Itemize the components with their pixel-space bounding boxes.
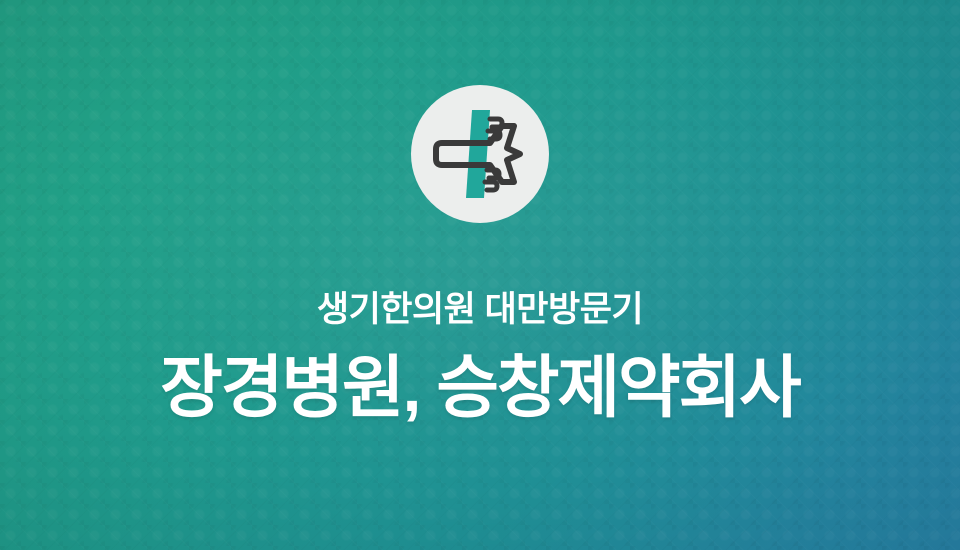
airplane-icon bbox=[428, 102, 532, 206]
card-content: 생기한의원 대만방문기 장경병원, 승창제약회사 bbox=[0, 0, 960, 550]
thumbnail-card: 생기한의원 대만방문기 장경병원, 승창제약회사 bbox=[0, 0, 960, 550]
card-subtitle: 생기한의원 대만방문기 bbox=[0, 288, 960, 332]
card-title: 장경병원, 승창제약회사 bbox=[0, 346, 960, 430]
airplane-badge bbox=[411, 85, 549, 223]
